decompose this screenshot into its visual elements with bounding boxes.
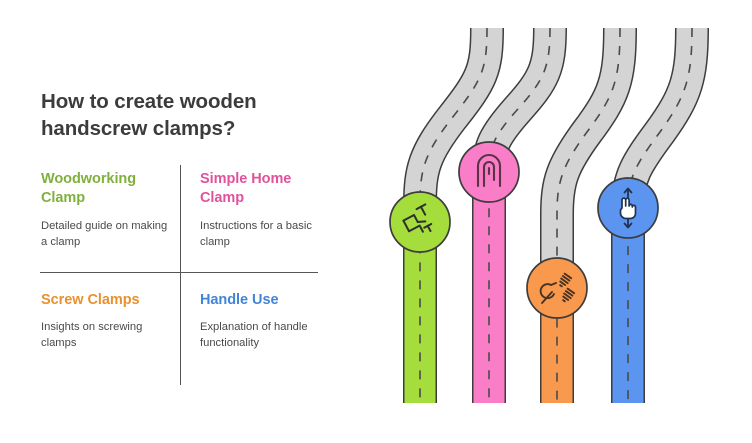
- quadrant-description-woodworking-clamp: Detailed guide on making a clamp: [41, 218, 173, 250]
- left-content-panel: How to create wooden handscrew clamps? W…: [0, 0, 380, 443]
- quadrant-description-handle-use: Explanation of handle functionality: [200, 319, 332, 351]
- quadrant-handle-use: Handle Use Explanation of handle functio…: [200, 291, 332, 351]
- quadrant-description-simple-home-clamp: Instructions for a basic clamp: [200, 218, 332, 250]
- quadrant-heading-simple-home-clamp: Simple Home Clamp: [200, 170, 332, 209]
- quadrant-screw-clamps: Screw Clamps Insights on screwing clamps: [41, 291, 173, 351]
- marker-circle-orange[interactable]: [527, 258, 587, 318]
- road-marker-woodworking-clamp[interactable]: [390, 192, 450, 252]
- page-title: How to create wooden handscrew clamps?: [41, 88, 331, 142]
- road-marker-handle-use[interactable]: [598, 178, 658, 238]
- quadrant-heading-screw-clamps: Screw Clamps: [41, 291, 173, 310]
- road-marker-simple-home-clamp[interactable]: [459, 142, 519, 202]
- quadrant-heading-handle-use: Handle Use: [200, 291, 332, 310]
- infographic-canvas: How to create wooden handscrew clamps? W…: [0, 0, 752, 443]
- divider-vertical: [180, 165, 181, 385]
- quadrant-simple-home-clamp: Simple Home Clamp Instructions for a bas…: [200, 170, 332, 250]
- quadrant-description-screw-clamps: Insights on screwing clamps: [41, 319, 173, 351]
- divider-horizontal: [40, 272, 318, 273]
- road-journey-graphic: [372, 0, 752, 443]
- quadrant-woodworking-clamp: Woodworking Clamp Detailed guide on maki…: [41, 170, 173, 250]
- road-marker-screw-clamps[interactable]: [527, 258, 587, 318]
- quadrant-heading-woodworking-clamp: Woodworking Clamp: [41, 170, 173, 209]
